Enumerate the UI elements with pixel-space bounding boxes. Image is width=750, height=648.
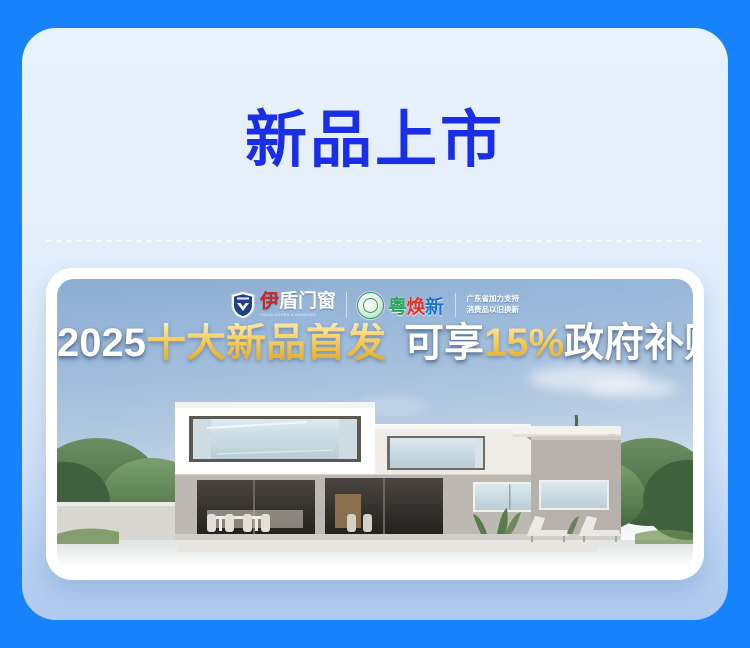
content-panel: 新品上市 <box>22 28 728 620</box>
shield-icon <box>231 291 255 319</box>
headline-promo: 十大新品首发 <box>146 323 386 363</box>
government-program-badge: 粤焕新 广东省加力支持 消费品以旧换新 <box>357 292 519 319</box>
promo-banner-card[interactable]: 伊盾门窗 YIDUN DOORS & WINDOWS 粤焕新 广东省加力支持 消… <box>46 268 704 580</box>
headline-year: 2025 <box>57 323 146 363</box>
program-char-1: 粤 <box>388 297 407 318</box>
dashed-divider <box>46 240 702 242</box>
page-root: 新品上市 <box>0 0 750 648</box>
brand-name: 伊盾门窗 <box>260 292 336 311</box>
green-circular-seal-icon <box>357 292 384 319</box>
promo-banner-image: 伊盾门窗 YIDUN DOORS & WINDOWS 粤焕新 广东省加力支持 消… <box>57 279 693 569</box>
banner-headline: 2025十大新品首发可享15%政府补贴 <box>57 323 693 363</box>
headline-offer-suffix: 政府补贴 <box>564 323 693 363</box>
brand-name-accent: 伊 <box>260 291 279 312</box>
logo-divider <box>346 292 347 318</box>
badge-divider <box>455 293 456 317</box>
brand-tagline: YIDUN DOORS & WINDOWS <box>260 314 316 318</box>
brand-logo: 伊盾门窗 YIDUN DOORS & WINDOWS <box>231 291 336 319</box>
page-title-container: 新品上市 <box>22 110 728 172</box>
brand-text: 伊盾门窗 YIDUN DOORS & WINDOWS <box>260 292 336 318</box>
banner-logo-row: 伊盾门窗 YIDUN DOORS & WINDOWS 粤焕新 广东省加力支持 消… <box>57 291 693 319</box>
program-name: 粤焕新 <box>388 292 444 319</box>
headline-offer-percent: 15% <box>484 323 564 363</box>
headline-offer-prefix: 可享 <box>404 323 484 363</box>
program-subtitle-line1: 广东省加力支持 <box>467 295 520 304</box>
program-subtitle-line2: 消费品以旧换新 <box>467 306 520 315</box>
brand-name-rest: 盾门窗 <box>279 291 336 312</box>
villa-illustration <box>57 384 693 569</box>
program-char-3: 新 <box>425 297 444 318</box>
program-subtitle: 广东省加力支持 消费品以旧换新 <box>467 295 520 314</box>
program-char-2: 焕 <box>407 297 426 318</box>
page-title: 新品上市 <box>245 110 505 172</box>
